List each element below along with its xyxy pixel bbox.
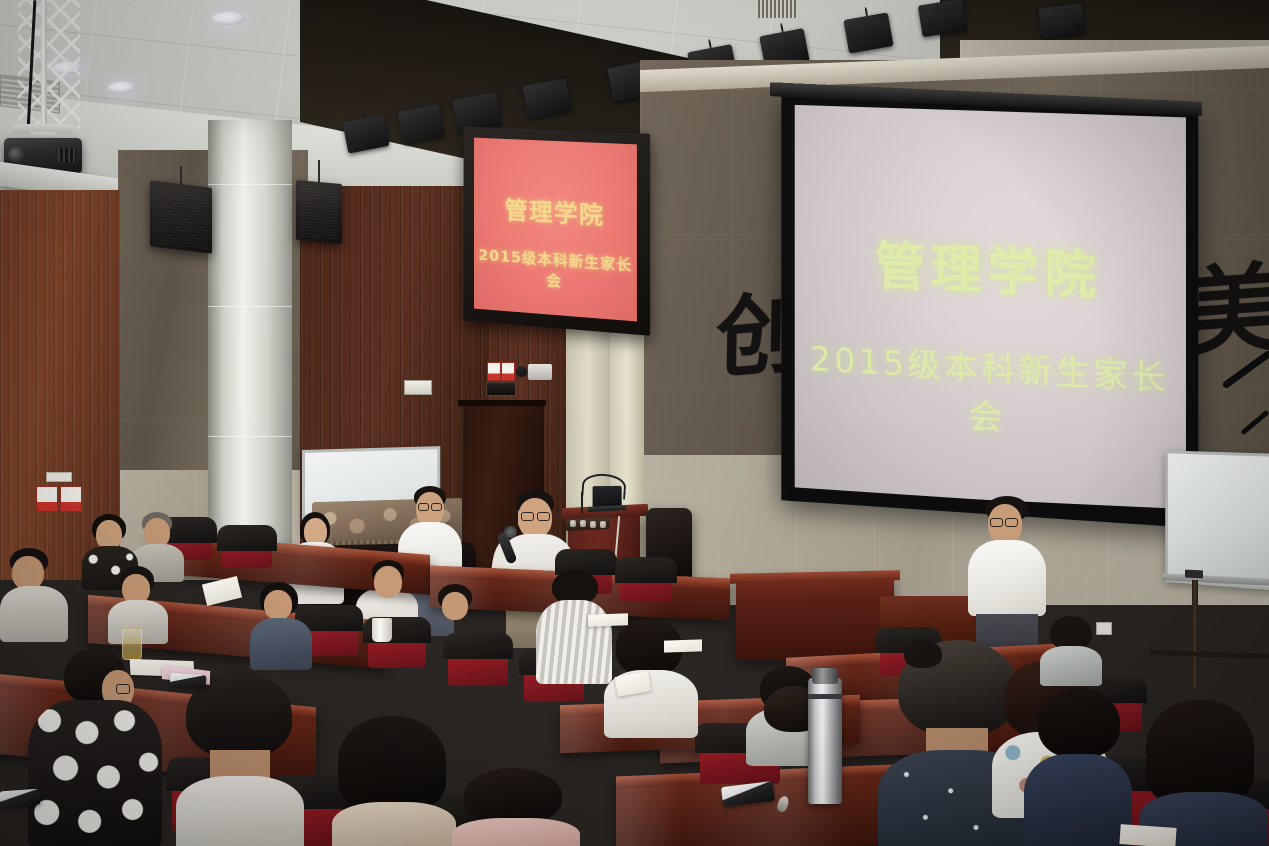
screen-surface: 管理学院 2015级本科新生家长会 <box>795 105 1186 513</box>
handout-paper[interactable] <box>1119 824 1176 846</box>
head <box>12 556 44 590</box>
auditorium-seat[interactable] <box>620 560 672 602</box>
audience-member-front <box>332 716 458 846</box>
head <box>374 566 402 598</box>
handout-paper[interactable] <box>202 576 242 606</box>
eyeglass-lens <box>990 518 1003 527</box>
control-button[interactable] <box>580 520 586 527</box>
audience-member-front <box>452 768 582 846</box>
control-button[interactable] <box>600 521 606 528</box>
eyeglass-lens <box>116 684 130 694</box>
whiteboard-on-stand[interactable] <box>1165 450 1269 590</box>
audience-member <box>0 548 70 638</box>
audience-member <box>428 584 486 648</box>
audience-member-front <box>1140 700 1269 846</box>
thermos-ring <box>808 694 842 699</box>
torso <box>1024 754 1132 846</box>
auditorium-photo: 创 美 管理学院 2015级本科新生家长会 管理学院 2015级本科新生家长会 <box>0 0 1269 846</box>
torso <box>452 818 580 846</box>
structural-column <box>208 120 292 550</box>
notice-sign <box>46 472 72 482</box>
torso <box>332 802 456 846</box>
audience-member <box>604 618 700 732</box>
safety-sign <box>487 362 501 381</box>
head <box>264 590 292 620</box>
audience-member <box>250 582 314 668</box>
wall-speaker-left <box>150 180 212 254</box>
audience-member <box>1040 616 1104 678</box>
tea-glass[interactable] <box>122 628 142 660</box>
downlight <box>212 12 246 25</box>
hair <box>338 716 446 810</box>
projector-lens <box>8 146 25 163</box>
hair <box>1146 700 1254 804</box>
paper-cup[interactable] <box>372 618 392 642</box>
torso <box>28 700 162 846</box>
speaker-hanger-right <box>318 160 320 184</box>
torso <box>536 600 612 684</box>
torso <box>176 776 304 846</box>
projector-vent <box>58 148 76 162</box>
screen-title-line1: 管理学院 <box>795 221 1186 314</box>
eyeglass-lens <box>418 503 429 511</box>
safety-sign <box>501 362 515 381</box>
handout-paper[interactable] <box>664 639 702 652</box>
wall-power-outlet[interactable] <box>1096 622 1112 635</box>
auditorium-seat[interactable] <box>222 528 272 568</box>
wall-speaker-right <box>296 180 342 244</box>
whiteboard-stand-crossbar <box>1150 650 1269 659</box>
screen-title-line2: 2015级本科新生家长会 <box>795 331 1186 451</box>
stage-table-right <box>736 576 894 660</box>
hair <box>552 570 598 604</box>
lift-pole <box>41 0 47 132</box>
camera-mount <box>528 364 552 380</box>
display-title-line1: 管理学院 <box>474 189 637 233</box>
secondary-display[interactable]: 管理学院 2015级本科新生家长会 <box>464 126 651 335</box>
thermos-cap <box>812 668 838 684</box>
display-title-line2: 2015级本科新生家长会 <box>474 244 637 297</box>
hair <box>904 640 942 668</box>
no-smoking-sign <box>36 486 58 512</box>
eyeglass-lens <box>1005 518 1018 527</box>
torso <box>968 540 1046 616</box>
main-projection-screen[interactable]: 管理学院 2015级本科新生家长会 <box>781 96 1198 529</box>
no-photography-sign <box>60 486 82 512</box>
ceiling-grille-dark <box>756 0 796 18</box>
torso <box>250 618 312 670</box>
display-surface: 管理学院 2015级本科新生家长会 <box>474 138 637 322</box>
security-camera <box>516 366 527 377</box>
eyeglass-lens <box>431 503 442 511</box>
hair <box>1050 616 1092 650</box>
eyeglass-lens <box>537 512 550 521</box>
mic-stem <box>581 492 583 514</box>
stage-spotlight <box>1038 3 1085 38</box>
eyeglass-lens <box>521 512 534 521</box>
speaker-hanger-left <box>180 166 182 186</box>
woman-in-polka-dot-dress <box>28 648 166 846</box>
digital-clock-display <box>486 382 516 396</box>
audience-member <box>896 640 952 690</box>
smartphone-on-desk[interactable] <box>0 789 41 808</box>
downlight <box>108 82 136 93</box>
hair <box>1038 688 1120 758</box>
door-frame <box>458 400 546 406</box>
whiteboard-stand-pole <box>1192 580 1198 688</box>
emergency-exit-sign <box>404 380 432 395</box>
torso <box>1040 646 1102 686</box>
whiteboard-eraser[interactable] <box>1185 570 1203 579</box>
hair <box>464 768 562 824</box>
mic-head <box>504 526 517 538</box>
control-button[interactable] <box>590 521 596 528</box>
audience-member-front <box>176 672 306 846</box>
torso <box>0 586 68 642</box>
audience-member-front <box>1024 688 1134 846</box>
smartphone-on-desk[interactable] <box>170 673 207 689</box>
head <box>442 592 468 620</box>
handout-paper[interactable] <box>588 613 628 626</box>
